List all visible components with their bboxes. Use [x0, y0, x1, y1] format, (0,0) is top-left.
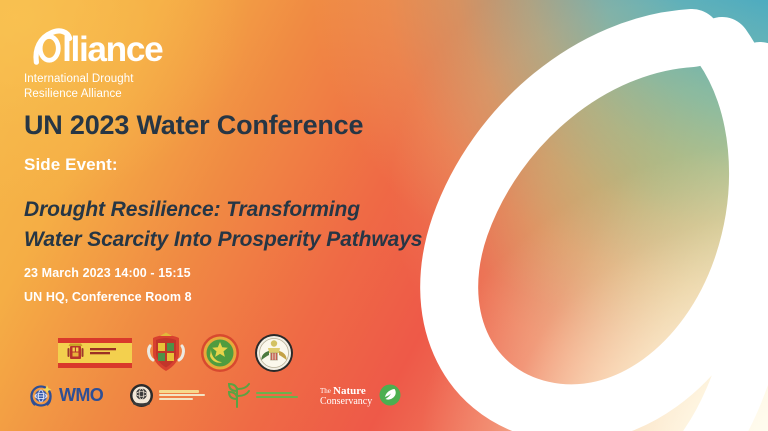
logo-royal-coat-of-arms	[146, 331, 186, 375]
cbd-wordmark	[256, 392, 298, 398]
royal-coat-of-arms-emblem-icon	[146, 332, 186, 374]
side-event-label: Side Event:	[24, 155, 118, 175]
us-great-seal-eagle-icon	[254, 333, 294, 373]
organisation-partner-logos: WMO	[28, 379, 401, 411]
tnc-oak-leaf-circle-icon	[379, 384, 401, 406]
tnc-wordmark: The Nature Conservancy	[320, 383, 374, 407]
event-title: Drought Resilience: Transforming Water S…	[24, 195, 422, 255]
idra-logo-subtitle: International Drought Resilience Allianc…	[24, 72, 214, 102]
logo-united-states	[254, 331, 294, 375]
idra-logo-lockup: lliance International Drought Resilience…	[24, 26, 214, 102]
logo-nature-conservancy: The Nature Conservancy	[320, 379, 401, 411]
spain-government-flag-emblem-icon	[58, 338, 132, 368]
wmo-wordmark: WMO	[59, 384, 107, 406]
event-meta: 23 March 2023 14:00 - 15:15 UN HQ, Confe…	[24, 262, 192, 310]
logo-spain-government	[58, 331, 132, 375]
logo-mauritania	[200, 331, 240, 375]
conference-title: UN 2023 Water Conference	[24, 110, 363, 141]
government-partner-logos	[58, 331, 294, 375]
logo-cbd	[227, 379, 298, 411]
unccd-un-globe-icon	[129, 383, 154, 408]
event-venue: UN HQ, Conference Room 8	[24, 286, 192, 310]
logo-wmo: WMO	[28, 379, 107, 411]
wmo-un-globe-compass-icon	[28, 382, 54, 408]
svg-text:lliance: lliance	[62, 30, 163, 66]
svg-text:The: The	[320, 387, 331, 395]
logo-unccd	[129, 379, 205, 411]
svg-text:WMO: WMO	[59, 385, 104, 405]
unccd-wordmark	[159, 390, 205, 400]
cbd-green-leaf-icon	[227, 382, 251, 408]
svg-text:Conservancy: Conservancy	[320, 396, 372, 407]
event-banner: lliance International Drought Resilience…	[0, 0, 768, 431]
alliance-wordmark: lliance	[24, 26, 214, 66]
event-datetime: 23 March 2023 14:00 - 15:15	[24, 262, 192, 286]
banner-content: lliance International Drought Resilience…	[0, 0, 768, 431]
mauritania-star-crescent-seal-icon	[200, 333, 240, 373]
